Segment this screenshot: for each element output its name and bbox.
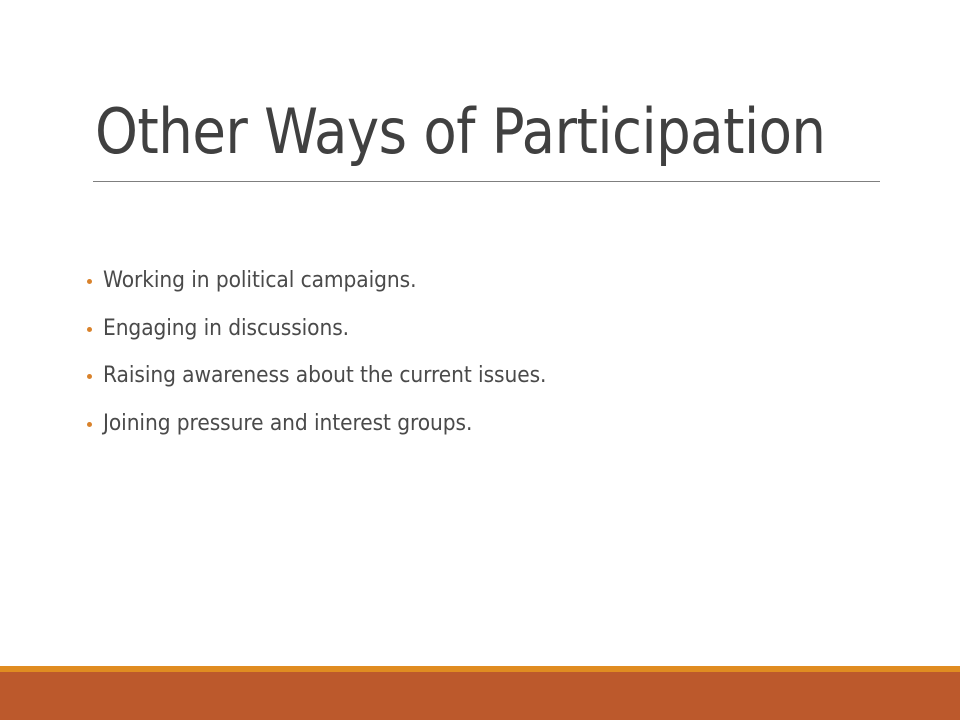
bullet-dot-icon — [87, 422, 92, 427]
slide-title-block: Other Ways of Participation — [93, 96, 880, 182]
list-item: Engaging in discussions. — [84, 316, 884, 364]
page-title: Other Ways of Participation — [95, 96, 825, 168]
footer-main-band — [0, 672, 960, 720]
list-item-label: Joining pressure and interest groups. — [103, 411, 472, 437]
bullet-dot-icon — [87, 374, 92, 379]
title-underline-rule — [93, 181, 880, 182]
bullet-list: Working in political campaigns. Engaging… — [84, 268, 884, 458]
bullet-dot-icon — [87, 327, 92, 332]
bullet-dot-icon — [87, 279, 92, 284]
list-item: Raising awareness about the current issu… — [84, 363, 884, 411]
list-item: Working in political campaigns. — [84, 268, 884, 316]
list-item-label: Raising awareness about the current issu… — [103, 363, 546, 389]
list-item-label: Working in political campaigns. — [103, 268, 416, 294]
list-item-label: Engaging in discussions. — [103, 316, 349, 342]
list-item: Joining pressure and interest groups. — [84, 411, 884, 459]
slide-canvas: Other Ways of Participation Working in p… — [0, 0, 960, 720]
